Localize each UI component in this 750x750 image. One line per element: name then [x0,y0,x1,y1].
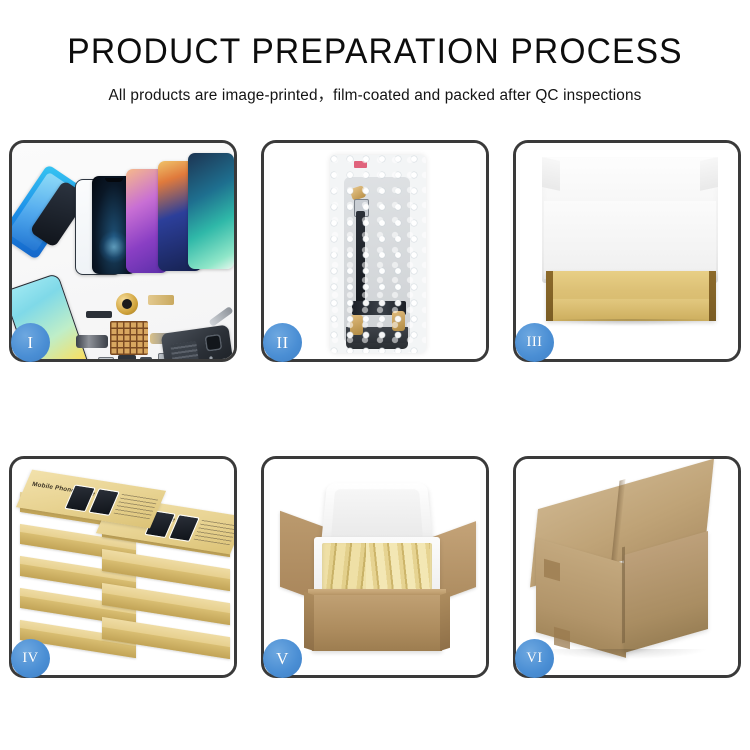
page-subtitle: All products are image-printed，film-coat… [4,83,747,105]
kraft-box-front-icon [546,299,716,321]
step-1-photo [12,143,234,359]
chip-b-icon [118,355,136,359]
gold-boxes-rows-icon [322,543,432,593]
flex-cable-left-icon [76,335,108,348]
camera-ring-icon [116,293,138,315]
white-foam-sheet-icon [544,201,716,279]
teal-phone-icon [188,153,234,269]
screws-icon [208,355,230,359]
repair-tweezers-icon [208,306,233,327]
kraft-box-right-edge-icon [709,271,716,321]
box-spec-lines-front-icon [194,519,234,545]
step-badge-4: IV [11,639,50,678]
carton-corner-seam-icon [622,547,625,644]
carton-drop-shadow-icon [540,649,706,659]
step-4-photo: Mobile Phone Spare Parts Mobile Phone Sp… [12,459,234,675]
retail-box-stack-icon: Mobile Phone Spare Parts Mobile Phone Sp… [18,473,232,669]
bubble-highlight-icon [330,155,426,353]
step-5-photo [264,459,486,675]
bubble-wrap-bag-icon [330,155,426,353]
phone-notch-icon [105,178,123,182]
box-spec-lines-back-icon [114,493,159,519]
box-drop-shadow-icon [550,319,712,326]
step-2-photo [264,143,486,359]
process-step-5[interactable]: V [261,456,489,678]
process-step-grid: I II [9,140,741,678]
step-badge-5: V [263,639,302,678]
gold-flex-cable-icon [148,295,174,305]
phone-back-housing-icon [161,325,234,359]
step-3-photo [516,143,738,359]
step-badge-3: III [515,323,554,362]
step-badge-1: I [11,323,50,362]
chip-c-icon [140,357,152,359]
carton-body-icon [312,595,442,651]
copper-shield-grid-icon [110,321,148,355]
kraft-box-left-edge-icon [546,271,553,321]
step-badge-6: VI [515,639,554,678]
carton-tape-lower-icon [554,627,570,650]
process-step-2[interactable]: II [261,140,489,362]
process-step-6[interactable]: VI [513,456,741,678]
page-header: PRODUCT PREPARATION PROCESS All products… [0,0,750,105]
process-step-1[interactable]: I [9,140,237,362]
page-title: PRODUCT PREPARATION PROCESS [15,34,735,69]
step-6-photo [516,459,738,675]
chip-a-icon [98,357,114,359]
process-step-3[interactable]: III [513,140,741,362]
process-step-4[interactable]: Mobile Phone Spare Parts Mobile Phone Sp… [9,456,237,678]
step-badge-2: II [263,323,302,362]
earpiece-strip-icon [86,311,112,318]
